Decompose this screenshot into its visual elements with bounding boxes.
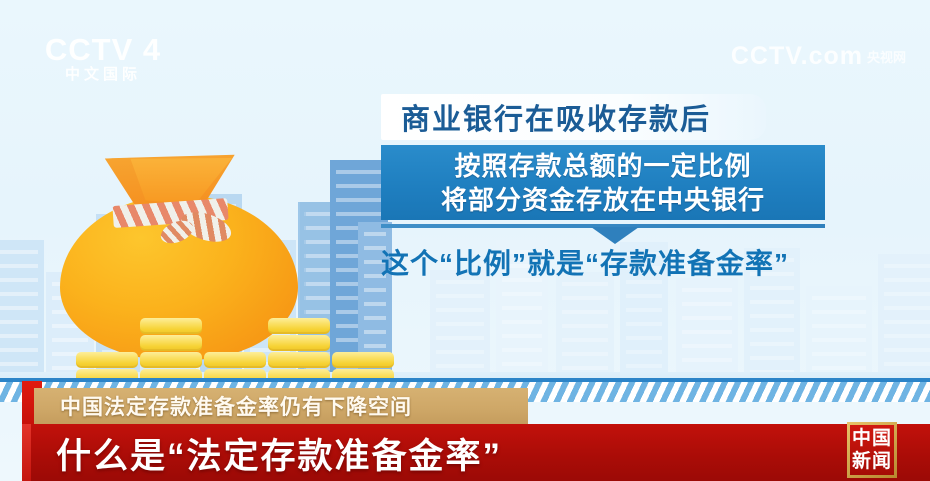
explainer-blue-box-line-1: 按照存款总额的一定比例: [454, 149, 751, 183]
coin: [76, 352, 138, 368]
building-window-row: [436, 322, 484, 326]
building-window-row: [436, 336, 484, 340]
building-window-row: [626, 322, 662, 326]
building-window-row: [502, 334, 542, 338]
building-window-row: [750, 342, 794, 346]
building-window-row: [682, 344, 732, 348]
channel-logo-text: CCTV 4: [45, 34, 161, 65]
program-badge-inner: 中国 新闻: [850, 425, 894, 475]
building-window-row: [812, 296, 866, 300]
building-window-row: [436, 364, 484, 368]
site-watermark: CCTV.com 央视网: [731, 42, 906, 71]
building-window-row: [436, 294, 484, 298]
program-badge: 中国 新闻: [847, 422, 897, 478]
building-window-row: [750, 300, 794, 304]
site-watermark-text: CCTV.com: [731, 42, 863, 71]
building-window-row: [364, 330, 386, 334]
explainer-blue-box-line-2: 将部分资金存放在中央银行: [441, 183, 765, 217]
building-window-row: [884, 320, 930, 324]
broadcast-frame: 商业银行在吸收存款后 按照存款总额的一定比例 将部分资金存放在中央银行 这个“比…: [0, 0, 930, 481]
building-window-row: [750, 314, 794, 318]
building-window-row: [682, 302, 732, 306]
coin-stack: [140, 317, 202, 385]
program-badge-line-2: 新闻: [852, 450, 892, 473]
lower-third-headline-bar-edge: [22, 424, 31, 481]
building-window-row: [884, 292, 930, 296]
building-window-row: [884, 306, 930, 310]
building-window-row: [812, 366, 866, 370]
site-watermark-cn: 央视网: [867, 47, 906, 66]
building: [878, 254, 930, 390]
building-window-row: [436, 350, 484, 354]
coin: [204, 352, 266, 368]
building-window-row: [812, 310, 866, 314]
building-window-row: [750, 356, 794, 360]
building-window-row: [884, 362, 930, 366]
building-window-row: [562, 296, 608, 300]
program-badge-line-1: 中国: [852, 427, 892, 450]
building-window-row: [336, 184, 382, 188]
building-window-row: [364, 288, 386, 292]
building-window-row: [364, 232, 386, 236]
explainer-line-1: 商业银行在吸收存款后: [381, 94, 766, 140]
building-window-row: [626, 294, 662, 298]
coin: [268, 318, 330, 334]
explainer-line-3: 这个“比例”就是“存款准备金率”: [381, 240, 881, 284]
building-window-row: [682, 358, 732, 362]
building-window-row: [502, 306, 542, 310]
lower-third-subtitle-banner: 中国法定存款准备金率仍有下降空间: [34, 388, 528, 424]
building-window-row: [502, 320, 542, 324]
building-window-row: [562, 338, 608, 342]
building-window-row: [682, 316, 732, 320]
building-window-row: [626, 336, 662, 340]
building-window-row: [884, 278, 930, 282]
coin: [140, 352, 202, 368]
explainer-line-1-text: 商业银行在吸收存款后: [401, 96, 711, 138]
building-window-row: [502, 292, 542, 296]
building-window-row: [682, 330, 732, 334]
building-window-row: [812, 352, 866, 356]
coin: [332, 352, 394, 368]
lower-third-headline: 什么是“法定存款准备金率”: [56, 430, 502, 476]
building-window-row: [812, 338, 866, 342]
explainer-blue-box: 按照存款总额的一定比例 将部分资金存放在中央银行: [381, 145, 825, 220]
building-window-row: [884, 348, 930, 352]
building-window-row: [336, 170, 382, 174]
coin: [268, 352, 330, 368]
building-window-row: [562, 310, 608, 314]
building-window-row: [812, 324, 866, 328]
lower-third-subtitle-text: 中国法定存款准备金率仍有下降空间: [60, 391, 412, 421]
coin: [268, 335, 330, 351]
money-bag-illustration: [28, 150, 328, 385]
building-window-row: [626, 364, 662, 368]
building-window-row: [562, 352, 608, 356]
building-window-row: [562, 324, 608, 328]
channel-logo-subtitle: 中文国际: [65, 65, 141, 85]
building-window-row: [364, 302, 386, 306]
building-window-row: [884, 264, 930, 268]
building-window-row: [562, 366, 608, 370]
channel-logo: CCTV 4 中文国际: [38, 30, 168, 88]
coin-stacks: [28, 305, 328, 385]
coin: [140, 318, 202, 334]
coin-stack: [268, 317, 330, 385]
lower-third-headline-text: 什么是“法定存款准备金率”: [56, 428, 502, 479]
explainer-line-3-text: 这个“比例”就是“存款准备金率”: [381, 242, 789, 282]
building-window-row: [750, 286, 794, 290]
building-window-row: [364, 316, 386, 320]
building-window-row: [502, 362, 542, 366]
building-window-row: [502, 348, 542, 352]
coin: [140, 335, 202, 351]
building-window-row: [364, 344, 386, 348]
building-window-row: [626, 350, 662, 354]
building-window-row: [682, 288, 732, 292]
building-window-row: [436, 308, 484, 312]
building-window-row: [626, 308, 662, 312]
building-window-row: [336, 198, 382, 202]
building-window-row: [884, 334, 930, 338]
building-window-row: [750, 328, 794, 332]
building-window-row: [336, 212, 382, 216]
